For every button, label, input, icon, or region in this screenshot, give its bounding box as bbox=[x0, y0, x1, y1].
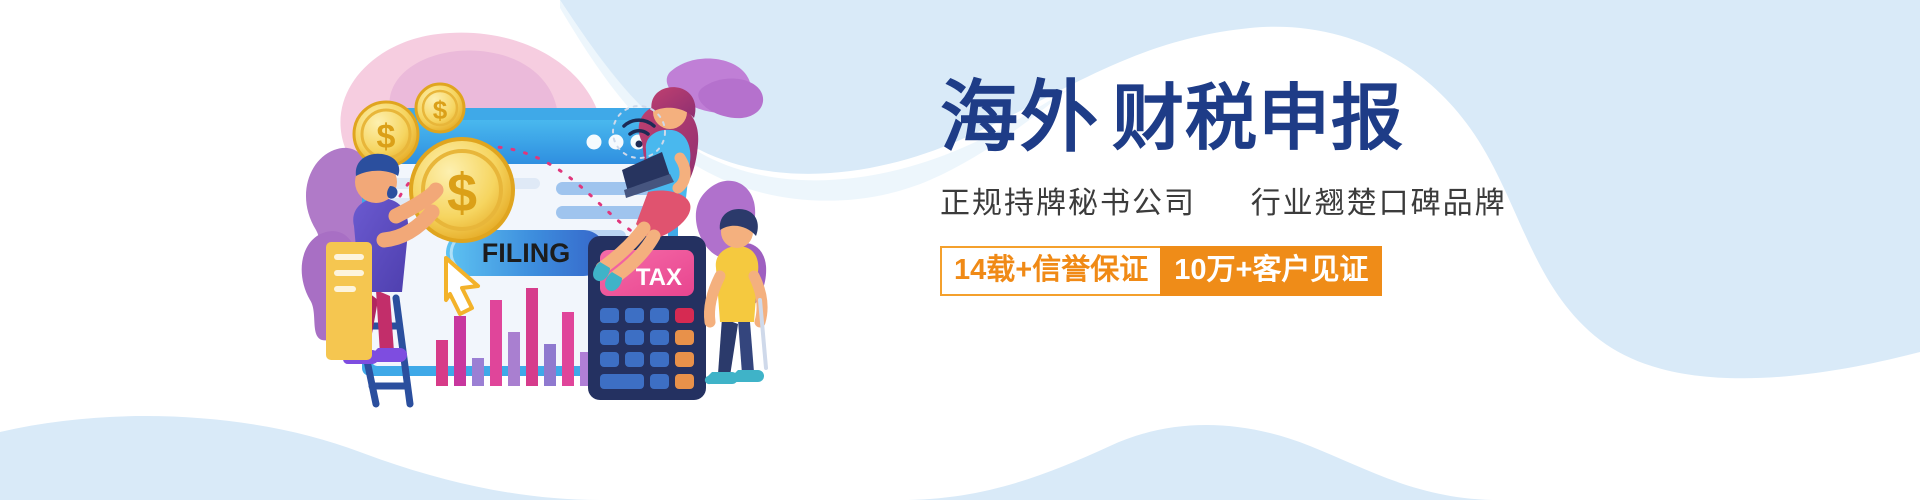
window-dot-2 bbox=[609, 135, 624, 150]
banner-copy-block: 海外 财税申报 正规持牌秘书公司 行业翘楚口碑品牌 14载+信誉保证 10万+客… bbox=[940, 78, 1840, 296]
page-title: 海外 财税申报 bbox=[940, 78, 1840, 156]
coin-dollar-symbol-3: $ bbox=[433, 95, 448, 125]
badge-group: 14载+信誉保证 10万+客户见证 bbox=[940, 246, 1382, 296]
coin-dollar-symbol-2: $ bbox=[377, 118, 396, 156]
gold-coin-small: $ bbox=[416, 84, 464, 132]
subtitle-right: 行业翘楚口碑品牌 bbox=[1251, 187, 1507, 220]
badge-years-guarantee: 14载+信誉保证 bbox=[940, 246, 1160, 296]
promo-banner: FILING $ $ $ bbox=[0, 0, 1920, 500]
banner-subtitle: 正规持牌秘书公司 行业翘楚口碑品牌 bbox=[940, 178, 1840, 222]
calculator-display-label: TAX bbox=[636, 264, 682, 291]
tax-filing-illustration: FILING $ $ $ bbox=[250, 0, 790, 500]
subtitle-left: 正规持牌秘书公司 bbox=[940, 187, 1196, 220]
headline-part-one: 海外 bbox=[940, 78, 1100, 156]
headline-part-two: 财税申报 bbox=[1112, 82, 1404, 154]
filing-button-label: FILING bbox=[482, 238, 571, 268]
coin-dollar-symbol: $ bbox=[447, 163, 477, 223]
badge-customer-count: 10万+客户见证 bbox=[1160, 246, 1382, 296]
document-stack bbox=[326, 242, 372, 360]
window-dot-3 bbox=[587, 135, 602, 150]
